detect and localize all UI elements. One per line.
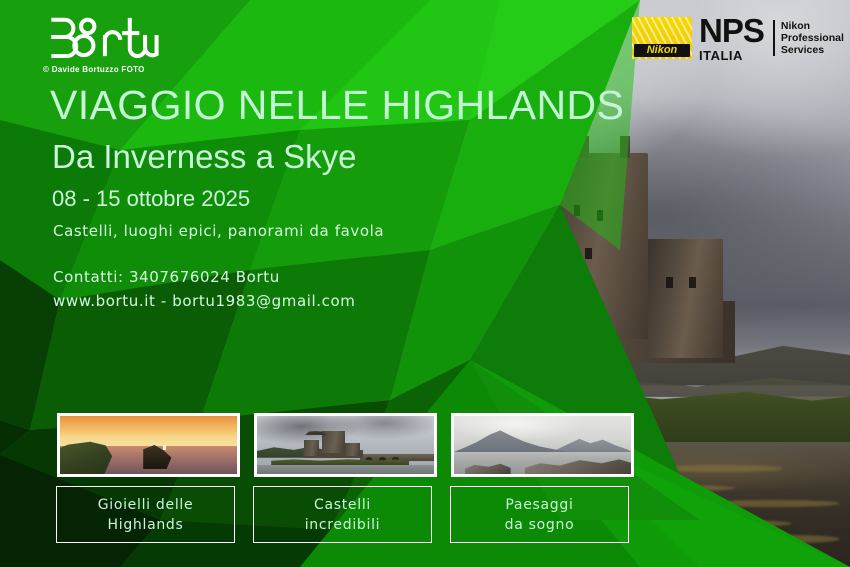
- poster: © Davide Bortuzzo FOTO Nikon NPS ITALIA …: [0, 0, 850, 567]
- contact-web[interactable]: www.bortu.it - bortu1983@gmail.com: [53, 292, 356, 310]
- nps-country: ITALIA: [699, 49, 764, 62]
- nps-full-line3: Services: [781, 44, 844, 56]
- caption-3-line1: Paesaggi: [505, 495, 573, 515]
- nikon-wordmark: Nikon: [634, 44, 690, 57]
- nps-logo: Nikon NPS ITALIA Nikon Professional Serv…: [632, 14, 844, 62]
- thumbnail-neist-point: [57, 413, 240, 477]
- caption-1-line1: Gioielli delle: [98, 495, 194, 515]
- bortu-wordmark-icon: [43, 14, 163, 58]
- caption-box-3: Paesaggi da sogno: [450, 486, 629, 543]
- brand-logo: © Davide Bortuzzo FOTO: [43, 14, 163, 74]
- caption-2-line2: incredibili: [305, 515, 381, 535]
- caption-2-line1: Castelli: [314, 495, 371, 515]
- caption-1-line2: Highlands: [108, 515, 184, 535]
- caption-3-line2: da sogno: [505, 515, 575, 535]
- nps-full-name: Nikon Professional Services: [773, 20, 844, 56]
- nikon-badge-icon: Nikon: [632, 17, 692, 59]
- poster-tagline: Castelli, luoghi epici, panorami da favo…: [53, 222, 384, 240]
- caption-box-2: Castelli incredibili: [253, 486, 432, 543]
- thumbnail-eilean-donan: [254, 413, 437, 477]
- poster-headline: VIAGGIO NELLE HIGHLANDS: [50, 82, 624, 129]
- caption-box-1: Gioielli delle Highlands: [56, 486, 235, 543]
- thumbnail-cuillin: [451, 413, 634, 477]
- poster-subhead: Da Inverness a Skye: [52, 138, 356, 176]
- logo-credit: © Davide Bortuzzo FOTO: [43, 65, 163, 74]
- nps-full-line2: Professional: [781, 32, 844, 44]
- contact-phone: Contatti: 3407676024 Bortu: [53, 268, 280, 286]
- nps-full-line1: Nikon: [781, 20, 844, 32]
- nps-abbrev: NPS: [699, 14, 764, 47]
- nps-text: NPS ITALIA: [699, 14, 764, 62]
- poster-dates: 08 - 15 ottobre 2025: [52, 186, 250, 212]
